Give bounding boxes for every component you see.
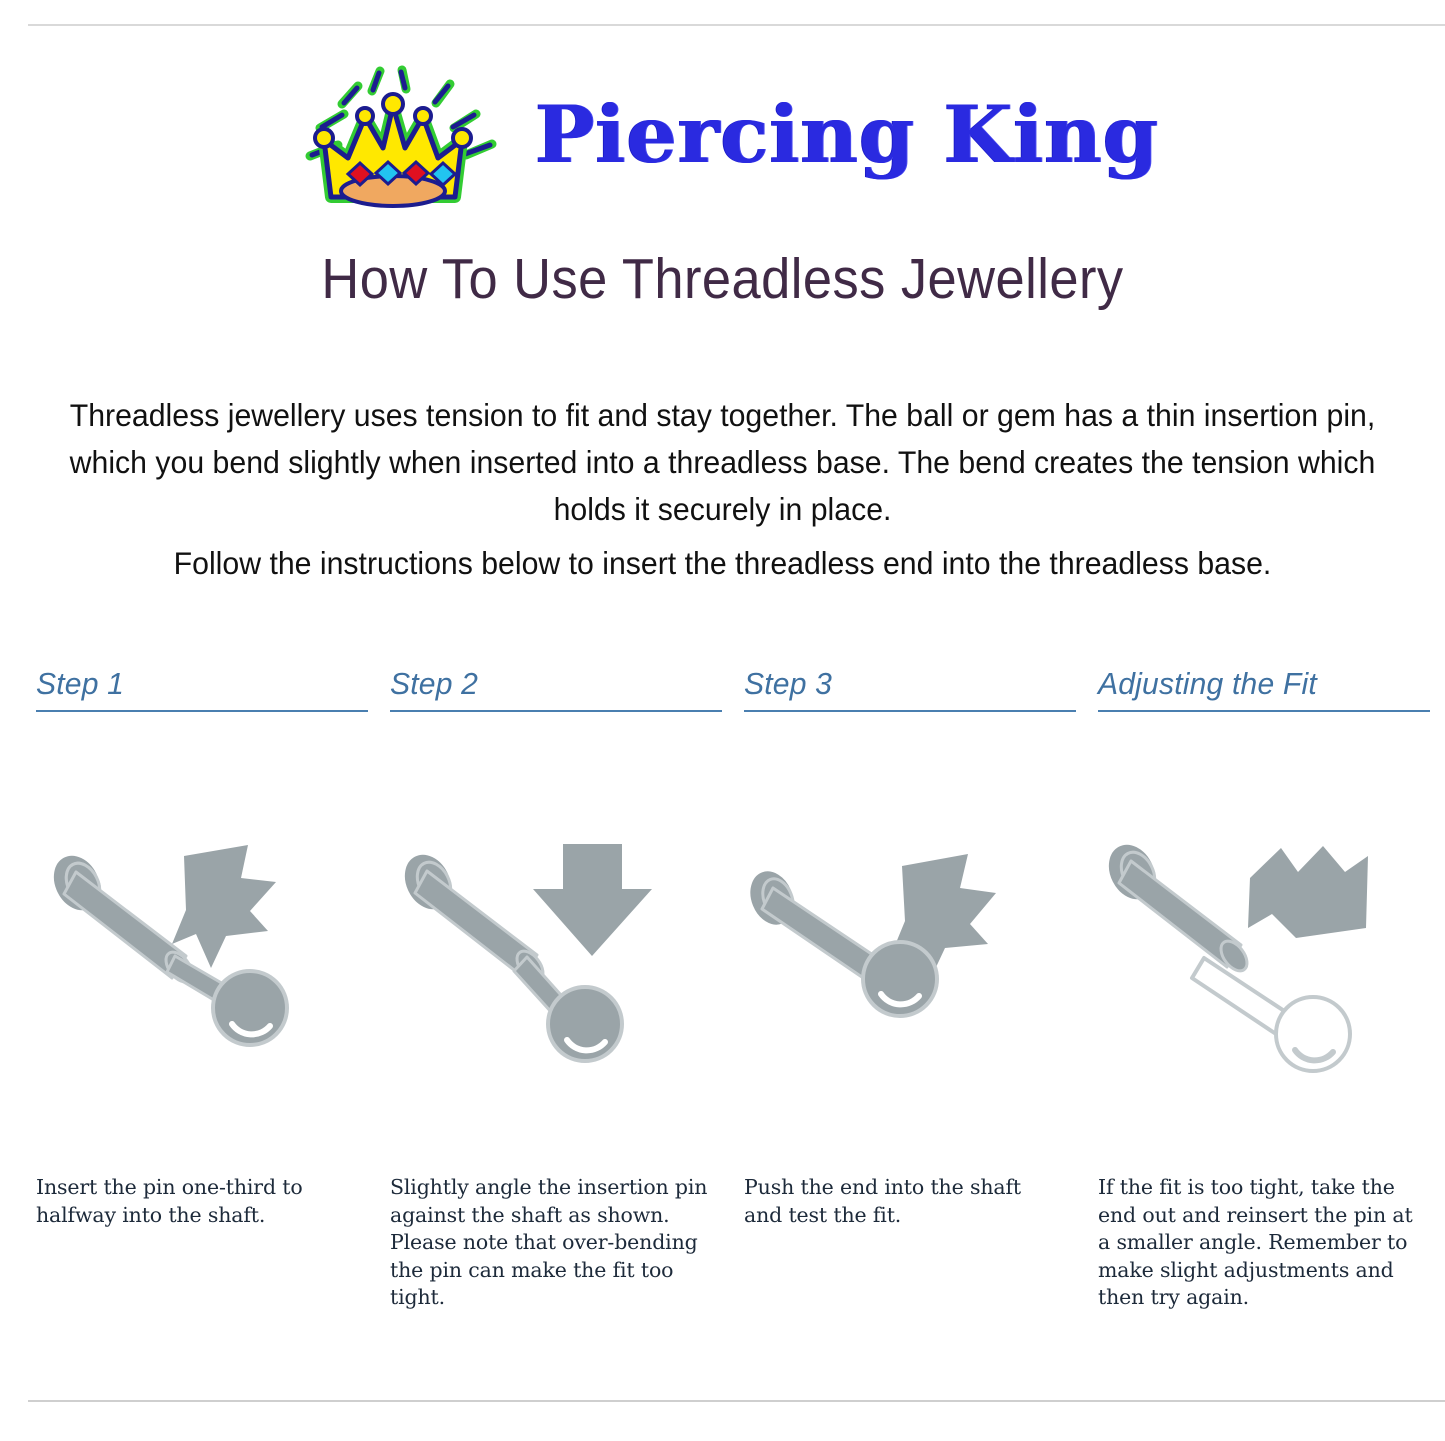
step-heading-rule-1 <box>36 710 368 712</box>
brand-header: Piercing King <box>0 56 1445 218</box>
step-column-1: Step 1 <box>36 666 390 1346</box>
step-heading-4: Adjusting the Fit <box>1098 666 1441 710</box>
top-divider <box>28 24 1445 26</box>
step-column-4: Adjusting the Fit <box>1098 666 1445 1346</box>
step-caption-1: Insert the pin one-third to halfway into… <box>36 1174 356 1229</box>
labret-pin-angled-with-down-arrow-icon <box>390 836 730 1076</box>
steps-grid: Step 1 <box>36 666 1432 1346</box>
page-title: How To Use Threadless Jewellery <box>58 246 1387 312</box>
step-column-3: Step 3 Push the end into the shaf <box>744 666 1098 1346</box>
step-heading-2: Step 2 <box>390 666 733 710</box>
brand-name: Piercing King <box>535 95 1159 180</box>
step-heading-rule-2 <box>390 710 722 712</box>
crown-icon <box>286 62 501 212</box>
labret-pin-seated-with-up-left-arrow-icon <box>744 836 1084 1076</box>
step-caption-4: If the fit is too tight, take the end ou… <box>1098 1174 1418 1312</box>
labret-pin-removed-with-down-right-arrow-icon <box>1098 836 1438 1076</box>
step-caption-2: Slightly angle the insertion pin against… <box>390 1174 710 1312</box>
intro-paragraph-2: Follow the instructions below to insert … <box>63 540 1381 587</box>
document-page: Piercing King How To Use Threadless Jewe… <box>0 0 1445 1441</box>
bottom-divider <box>28 1400 1445 1402</box>
step-heading-1: Step 1 <box>36 666 379 710</box>
step-heading-rule-4 <box>1098 710 1430 712</box>
step-heading-rule-3 <box>744 710 1076 712</box>
step-caption-3: Push the end into the shaft and test the… <box>744 1174 1064 1229</box>
labret-pin-inserted-with-up-left-arrow-icon <box>36 836 376 1076</box>
intro-paragraph-1: Threadless jewellery uses tension to fit… <box>63 392 1381 533</box>
step-column-2: Step 2 <box>390 666 744 1346</box>
step-heading-3: Step 3 <box>744 666 1087 710</box>
